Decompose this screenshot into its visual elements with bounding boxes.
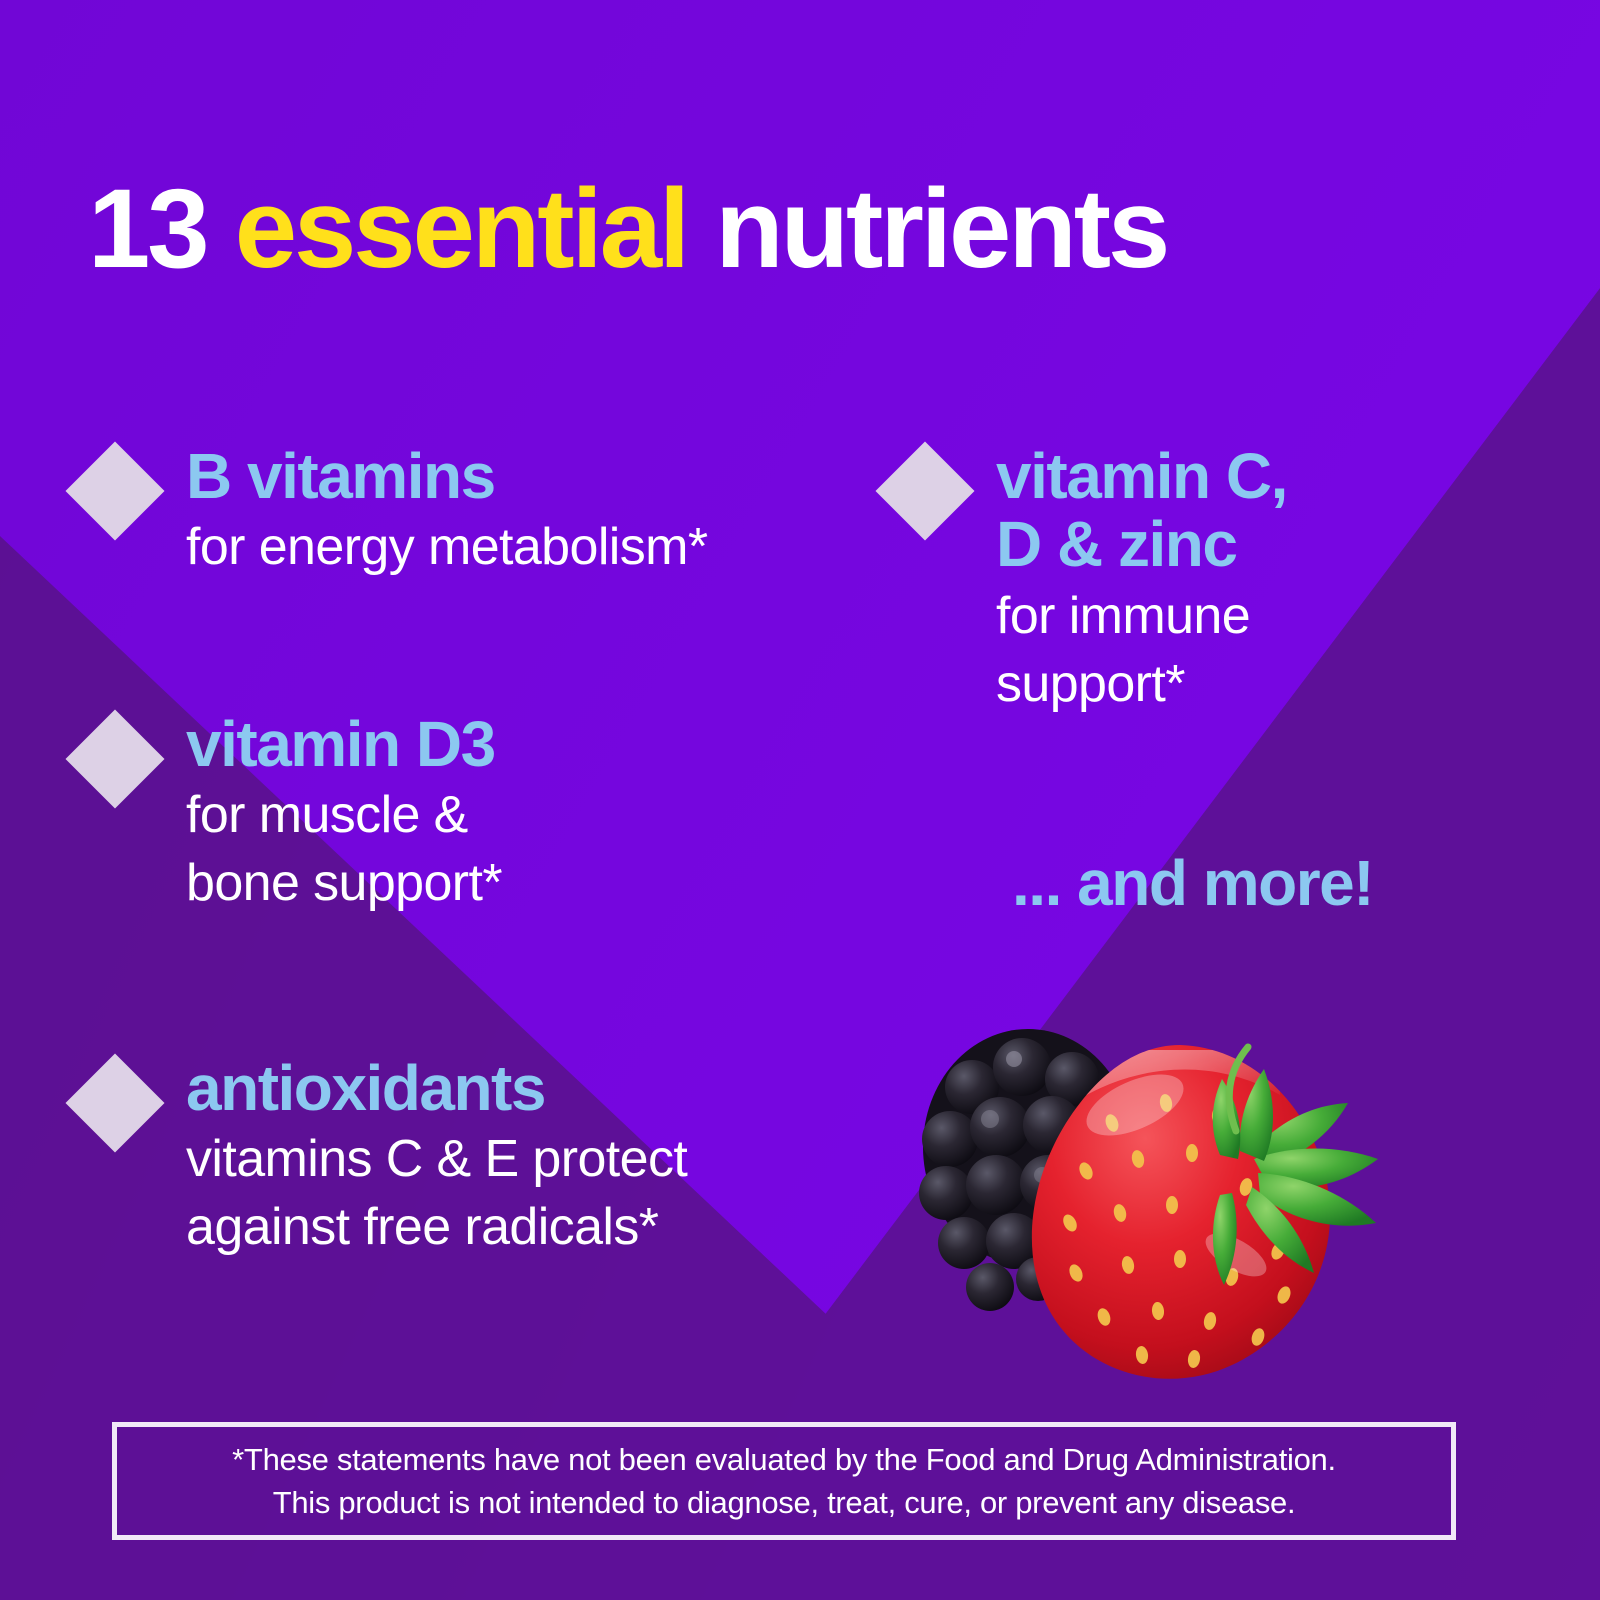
benefit-subtitle: for energy metabolism*	[186, 514, 707, 582]
benefit-item-b-vitamins: B vitamins for energy metabolism*	[80, 442, 707, 582]
benefit-item-vitamin-d3: vitamin D3 for muscle & bone support*	[80, 710, 502, 918]
benefit-subtitle: for muscle & bone support*	[186, 782, 502, 917]
bullet-wrap	[890, 442, 996, 542]
fruit-illustration	[880, 955, 1500, 1395]
page-title: 13 essential nutrients	[88, 172, 1167, 286]
benefit-title: vitamin C, D & zinc	[996, 442, 1287, 579]
benefit-title: antioxidants	[186, 1054, 687, 1122]
benefit-subtitle: for immune support*	[996, 583, 1287, 718]
diamond-icon	[876, 442, 975, 541]
bullet-wrap	[80, 1054, 186, 1154]
bullet-wrap	[80, 710, 186, 810]
promo-graphic: 13 essential nutrients B vitamins for en…	[0, 0, 1600, 1600]
benefit-item-antioxidants: antioxidants vitamins C & E protect agai…	[80, 1054, 687, 1262]
bullet-wrap	[80, 442, 186, 542]
headline-count: 13	[88, 166, 235, 291]
and-more-label: ... and more!	[1012, 846, 1373, 920]
headline-emphasis: essential	[235, 166, 687, 291]
disclaimer-box: *These statements have not been evaluate…	[112, 1422, 1456, 1540]
benefit-item-vitamin-c-d-zinc: vitamin C, D & zinc for immune support*	[890, 442, 1287, 718]
diamond-icon	[66, 1054, 165, 1153]
benefit-subtitle: vitamins C & E protect against free radi…	[186, 1126, 687, 1261]
benefit-title: vitamin D3	[186, 710, 502, 778]
diamond-icon	[66, 710, 165, 809]
diamond-icon	[66, 442, 165, 541]
headline-noun: nutrients	[687, 166, 1167, 291]
disclaimer-text: *These statements have not been evaluate…	[232, 1438, 1336, 1525]
benefit-title: B vitamins	[186, 442, 707, 510]
